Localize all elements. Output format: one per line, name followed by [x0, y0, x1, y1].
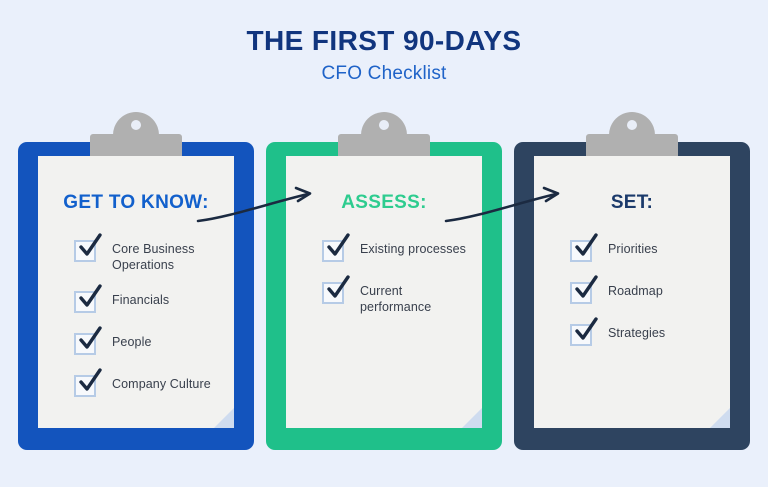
check-icon	[323, 274, 353, 304]
card-heading: ASSESS:	[286, 192, 482, 214]
list-item-label: Existing processes	[360, 238, 466, 257]
list-item-label: Roadmap	[608, 280, 663, 299]
check-icon	[75, 232, 105, 262]
page-title: THE FIRST 90-DAYS	[0, 26, 768, 57]
check-icon	[571, 232, 601, 262]
clipboard-get-to-know: GET TO KNOW: Core Business Operations	[18, 142, 254, 450]
list-item-label: Strategies	[608, 322, 665, 341]
checkbox-checked-icon[interactable]	[74, 373, 100, 399]
list-item[interactable]: Core Business Operations	[74, 238, 220, 273]
checkbox-checked-icon[interactable]	[570, 238, 596, 264]
list-item-label: Core Business Operations	[112, 238, 220, 273]
checkbox-checked-icon[interactable]	[322, 280, 348, 306]
checkbox-checked-icon[interactable]	[74, 289, 100, 315]
check-icon	[75, 283, 105, 313]
list-item-label: Financials	[112, 289, 169, 308]
list-item[interactable]: Roadmap	[570, 280, 716, 306]
card-heading: GET TO KNOW:	[38, 192, 234, 214]
check-icon	[571, 316, 601, 346]
checkbox-checked-icon[interactable]	[322, 238, 348, 264]
check-icon	[75, 367, 105, 397]
page-subtitle: CFO Checklist	[0, 64, 768, 85]
list-item[interactable]: People	[74, 331, 220, 357]
header: THE FIRST 90-DAYS CFO Checklist	[0, 26, 768, 85]
list-item-label: Priorities	[608, 238, 658, 257]
clipboard-assess: ASSESS: Existing processes	[266, 142, 502, 450]
card-heading: SET:	[534, 192, 730, 214]
page-fold-corner	[710, 408, 730, 428]
checklist: Existing processes Current performance	[322, 238, 468, 331]
page-fold-corner	[214, 408, 234, 428]
checkbox-checked-icon[interactable]	[74, 238, 100, 264]
infographic-canvas: THE FIRST 90-DAYS CFO Checklist GET TO K…	[0, 0, 768, 487]
list-item[interactable]: Current performance	[322, 280, 468, 315]
check-icon	[571, 274, 601, 304]
list-item[interactable]: Existing processes	[322, 238, 468, 264]
list-item[interactable]: Priorities	[570, 238, 716, 264]
check-icon	[75, 325, 105, 355]
paper-sheet: GET TO KNOW: Core Business Operations	[38, 156, 234, 428]
list-item-label: People	[112, 331, 152, 350]
list-item-label: Current performance	[360, 280, 468, 315]
list-item[interactable]: Financials	[74, 289, 220, 315]
clipboard-set: SET: Priorities	[514, 142, 750, 450]
list-item[interactable]: Company Culture	[74, 373, 220, 399]
checklist: Priorities Roadmap	[570, 238, 716, 364]
list-item[interactable]: Strategies	[570, 322, 716, 348]
checkbox-checked-icon[interactable]	[570, 322, 596, 348]
checkbox-checked-icon[interactable]	[74, 331, 100, 357]
page-fold-corner	[462, 408, 482, 428]
check-icon	[323, 232, 353, 262]
paper-sheet: SET: Priorities	[534, 156, 730, 428]
paper-sheet: ASSESS: Existing processes	[286, 156, 482, 428]
checklist: Core Business Operations Financials	[74, 238, 220, 415]
list-item-label: Company Culture	[112, 373, 211, 392]
checkbox-checked-icon[interactable]	[570, 280, 596, 306]
